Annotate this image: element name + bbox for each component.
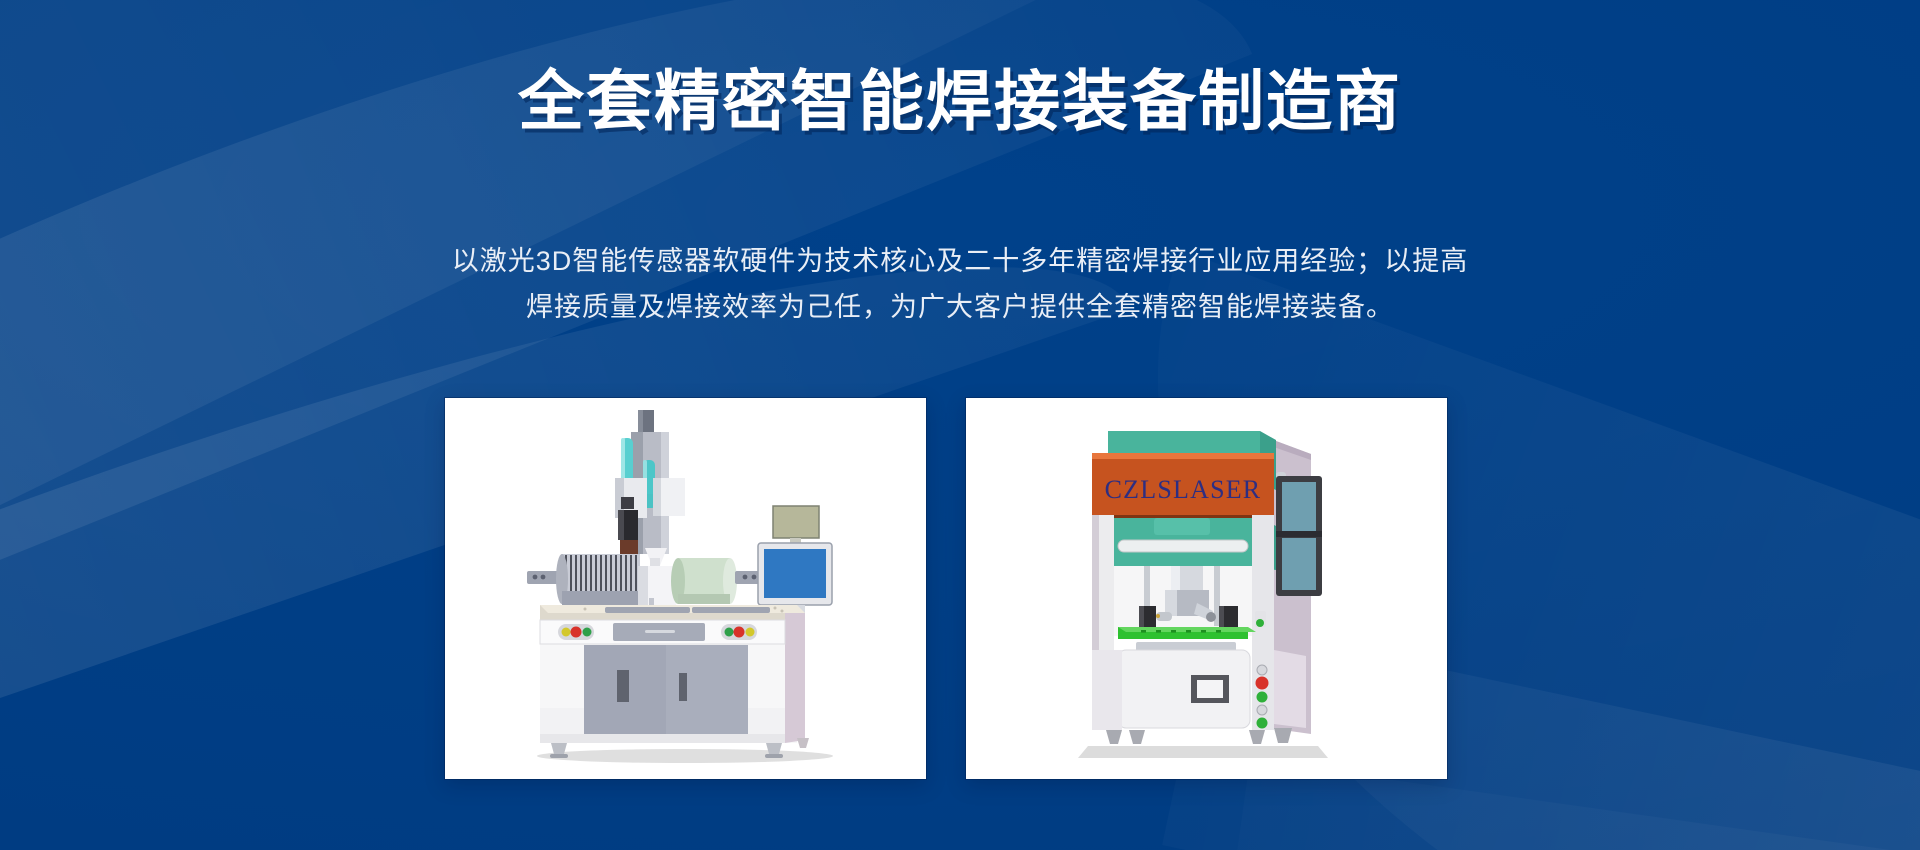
banner-headline: 全套精密智能焊接装备制造商 bbox=[0, 65, 1920, 138]
machine-brand-label: CZLSLASER bbox=[1105, 475, 1262, 504]
precision-laser-welding-workstation-illustration bbox=[445, 398, 926, 779]
banner-subcopy-line-2: 焊接质量及焊接效率为己任，为广大客户提供全套精密智能焊接装备。 bbox=[405, 284, 1515, 330]
banner-stage: 全套精密智能焊接装备制造商 以激光3D智能传感器软硬件为技术核心及二十多年精密焊… bbox=[0, 0, 1920, 850]
product-image-right[interactable]: CZLSLASER bbox=[966, 398, 1447, 779]
banner-subcopy: 以激光3D智能传感器软硬件为技术核心及二十多年精密焊接行业应用经验；以提高 焊接… bbox=[405, 238, 1515, 330]
banner-subcopy-line-1: 以激光3D智能传感器软硬件为技术核心及二十多年精密焊接行业应用经验；以提高 bbox=[405, 238, 1515, 284]
enclosed-laser-welding-cabinet-illustration: CZLSLASER bbox=[966, 398, 1447, 779]
product-image-row: CZLSLASER bbox=[445, 398, 1447, 779]
product-image-left[interactable] bbox=[445, 398, 926, 779]
